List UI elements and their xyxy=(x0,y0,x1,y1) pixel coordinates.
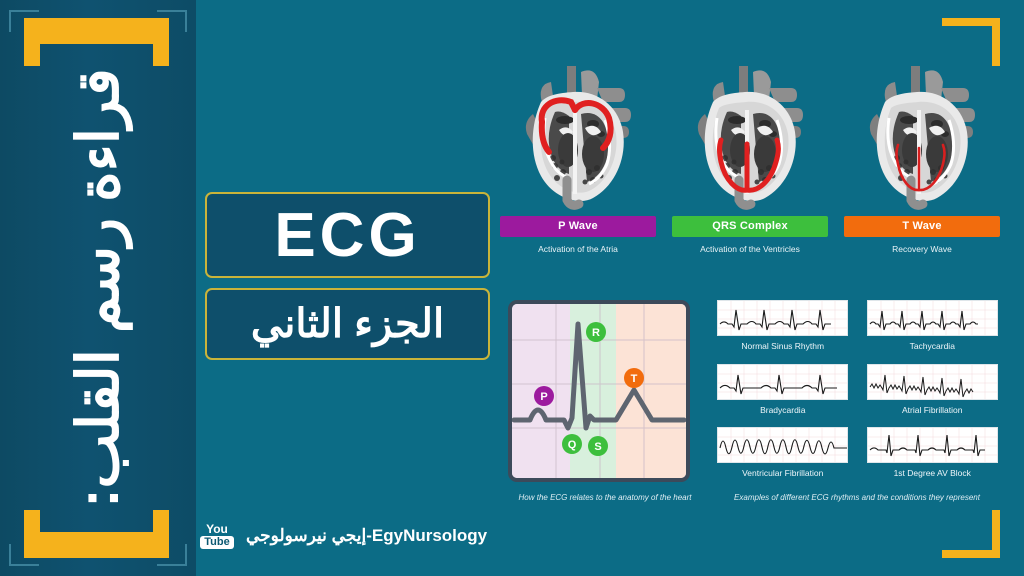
heart-anatomy-icon xyxy=(683,62,818,212)
rhythm-strips-grid: Normal Sinus Rhythm Tachycardia xyxy=(715,300,1000,485)
rhythm-label-normal-sinus-rhythm: Normal Sinus Rhythm xyxy=(741,341,824,351)
rhythm-strip-bradycardia xyxy=(717,364,848,400)
wave-subtitle-t: Recovery Wave xyxy=(892,244,952,254)
rhythm-cell-ventricular-fibrillation: Ventricular Fibrillation xyxy=(715,427,851,485)
vertical-title: قراءة رسم القلب: xyxy=(0,0,196,576)
rhythms-caption: Examples of different ECG rhythms and th… xyxy=(712,493,1002,502)
rhythm-strip-ventricular-fibrillation xyxy=(717,427,848,463)
vertical-title-text: قراءة رسم القلب: xyxy=(64,68,132,508)
rhythm-strip-atrial-fibrillation xyxy=(867,364,998,400)
ecg-diagram-caption: How the ECG relates to the anatomy of th… xyxy=(505,493,705,502)
wave-badge-p: P Wave xyxy=(500,216,656,237)
rhythm-label-tachycardia: Tachycardia xyxy=(910,341,955,351)
rhythm-label-atrial-fibrillation: Atrial Fibrillation xyxy=(902,405,962,415)
heart-diagrams-row: P Wave Activation of the Atria xyxy=(500,62,1000,277)
youtube-icon: You Tube xyxy=(197,520,237,552)
rhythm-cell-tachycardia: Tachycardia xyxy=(865,300,1001,358)
rhythm-cell-1st-degree-av-block: 1st Degree AV Block xyxy=(865,427,1001,485)
svg-text:P: P xyxy=(540,391,547,403)
rhythm-label-ventricular-fibrillation: Ventricular Fibrillation xyxy=(742,468,823,478)
ecg-marker-q: Q xyxy=(562,434,582,454)
heart-anatomy-icon xyxy=(855,62,990,212)
heart-anatomy-icon xyxy=(511,62,646,212)
rhythm-cell-normal-sinus-rhythm: Normal Sinus Rhythm xyxy=(715,300,851,358)
ecg-marker-r: R xyxy=(586,322,606,342)
rhythm-label-bradycardia: Bradycardia xyxy=(760,405,805,415)
wave-subtitle-p: Activation of the Atria xyxy=(538,244,618,254)
heart-card-qrs-complex: QRS Complex Activation of the Ventricles xyxy=(672,62,828,277)
brand-footer: You Tube EgyNursology-إيجي نيرسولوجي xyxy=(197,520,487,552)
brand-name: EgyNursology-إيجي نيرسولوجي xyxy=(246,526,487,546)
rhythm-strip-normal-sinus-rhythm xyxy=(717,300,848,336)
youtube-icon-top: You xyxy=(206,524,228,535)
wave-badge-t: T Wave xyxy=(844,216,1000,237)
svg-text:T: T xyxy=(631,373,638,385)
ecg-marker-s: S xyxy=(588,436,608,456)
title-box-ecg: ECG xyxy=(205,192,490,278)
ecg-zone-t xyxy=(616,304,686,478)
svg-text:Q: Q xyxy=(568,439,577,451)
rhythm-cell-bradycardia: Bradycardia xyxy=(715,364,851,422)
rhythm-strip-tachycardia xyxy=(867,300,998,336)
svg-text:S: S xyxy=(594,441,601,453)
rhythm-strip-1st-degree-av-block xyxy=(867,427,998,463)
wave-badge-qrs: QRS Complex xyxy=(672,216,828,237)
title-ecg-text: ECG xyxy=(274,200,420,271)
corner-bracket-bottom-right xyxy=(942,510,1000,558)
rhythm-cell-atrial-fibrillation: Atrial Fibrillation xyxy=(865,364,1001,422)
ecg-marker-p: P xyxy=(534,386,554,406)
ecg-waveform-svg: P R Q S T xyxy=(512,304,686,478)
heart-card-t-wave: T Wave Recovery Wave xyxy=(844,62,1000,277)
rhythm-label-1st-degree-av-block: 1st Degree AV Block xyxy=(894,468,971,478)
youtube-icon-bottom: Tube xyxy=(200,536,233,549)
wave-subtitle-qrs: Activation of the Ventricles xyxy=(700,244,800,254)
left-title-panel: قراءة رسم القلب: xyxy=(0,0,196,576)
title-box-part: الجزء الثاني xyxy=(205,288,490,360)
heart-card-p-wave: P Wave Activation of the Atria xyxy=(500,62,656,277)
ecg-waveform-diagram: P R Q S T xyxy=(508,300,690,482)
corner-bracket-top-right xyxy=(942,18,1000,66)
ecg-marker-t: T xyxy=(624,368,644,388)
title-part-text: الجزء الثاني xyxy=(251,301,444,347)
svg-text:R: R xyxy=(592,327,600,339)
